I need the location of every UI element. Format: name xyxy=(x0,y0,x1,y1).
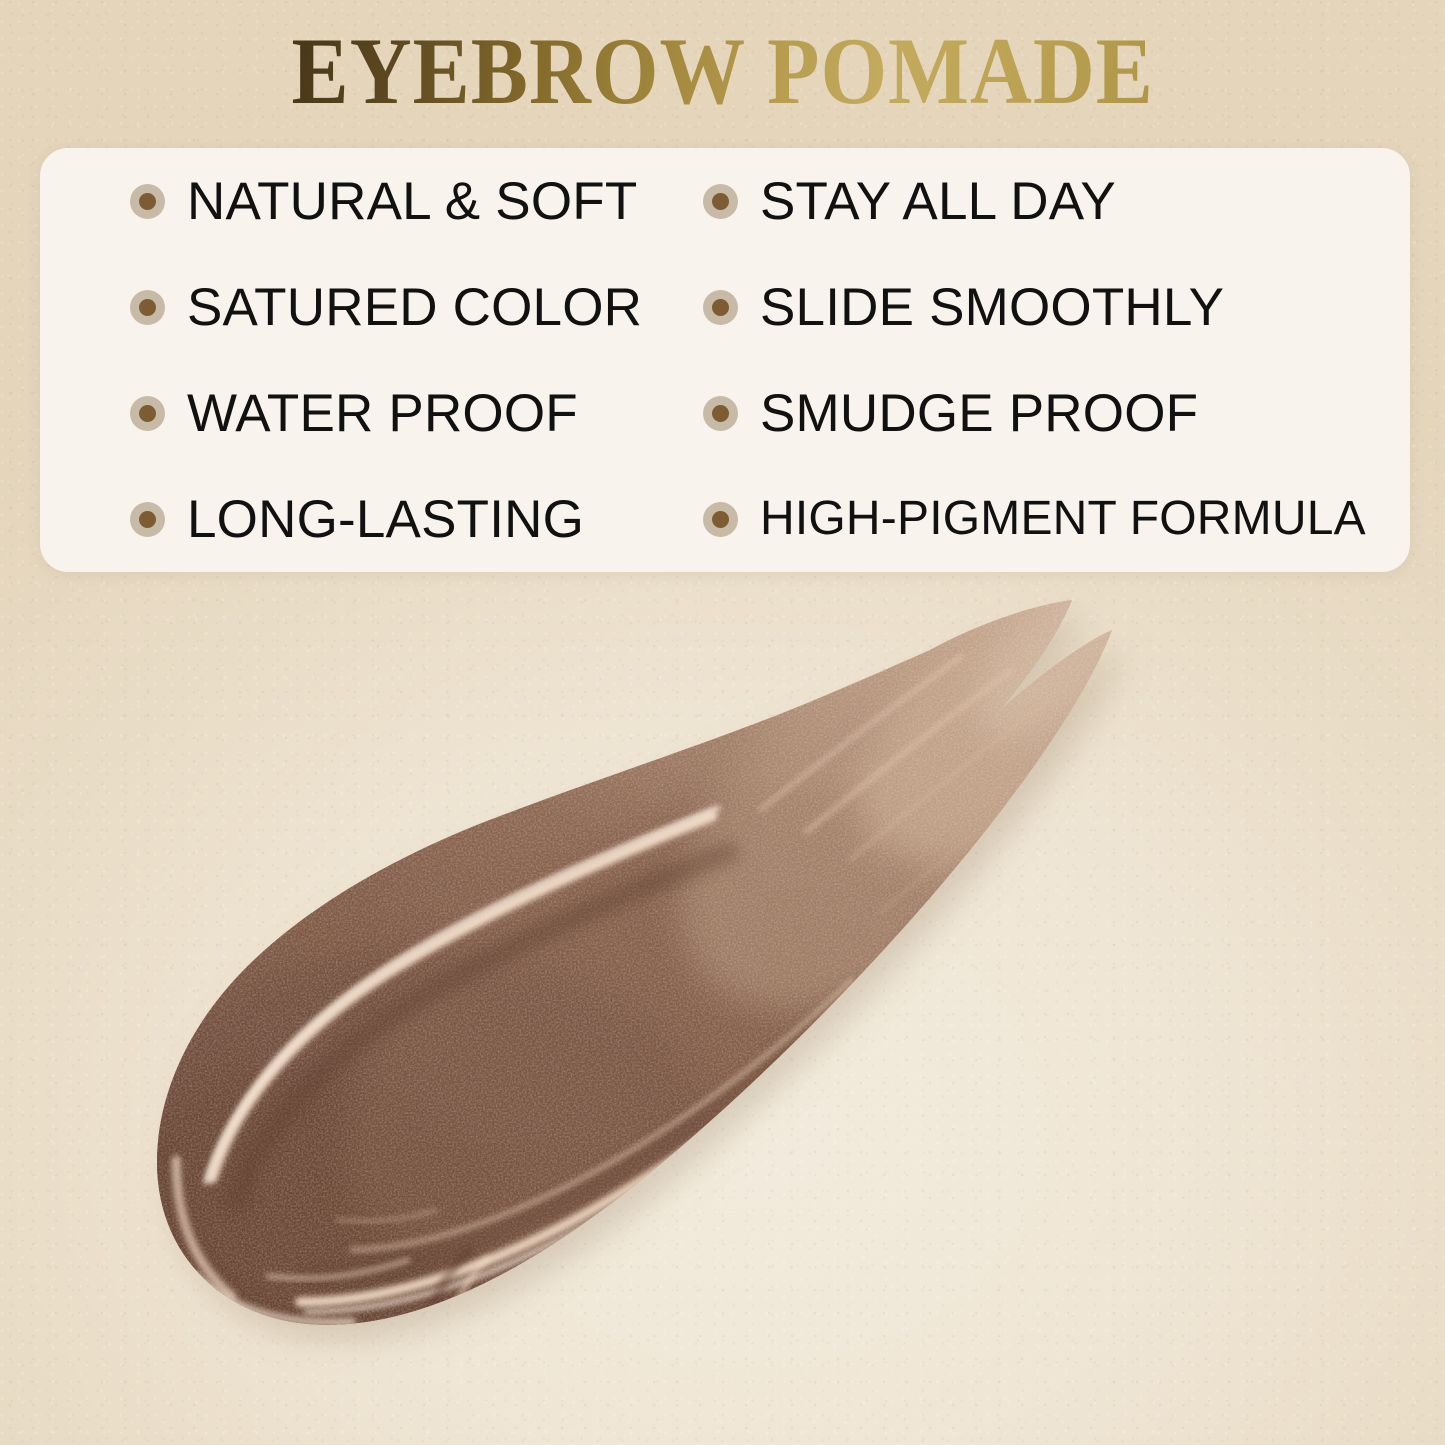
feature-label: STAY ALL DAY xyxy=(760,175,1116,228)
feature-label: LONG-LASTING xyxy=(187,493,584,546)
product-swatch-container xyxy=(0,560,1445,1445)
bullet-dot-icon xyxy=(130,502,165,537)
bullet-dot-icon xyxy=(703,396,738,431)
swatch-shading xyxy=(0,560,1445,1445)
eyebrow-pomade-swatch-image xyxy=(0,560,1445,1445)
bullet-dot-icon xyxy=(703,184,738,219)
bullet-dot-icon xyxy=(130,184,165,219)
feature-item-smudge-proof: SMUDGE PROOF xyxy=(703,387,1410,440)
feature-label: WATER PROOF xyxy=(187,387,578,440)
page-title-container: EYEBROW POMADE xyxy=(0,22,1445,110)
feature-card: NATURAL & SOFT STAY ALL DAY SATURED COLO… xyxy=(40,148,1410,572)
feature-label: SLIDE SMOOTHLY xyxy=(760,281,1224,334)
feature-item-slide-smoothly: SLIDE SMOOTHLY xyxy=(703,281,1410,334)
bullet-dot-icon xyxy=(130,290,165,325)
feature-label: HIGH-PIGMENT FORMULA xyxy=(760,495,1366,543)
feature-item-long-lasting: LONG-LASTING xyxy=(40,493,703,546)
feature-item-high-pigment-formula: HIGH-PIGMENT FORMULA xyxy=(703,495,1410,543)
feature-item-stay-all-day: STAY ALL DAY xyxy=(703,175,1410,228)
feature-label: SMUDGE PROOF xyxy=(760,387,1198,440)
feature-item-water-proof: WATER PROOF xyxy=(40,387,703,440)
feature-list: NATURAL & SOFT STAY ALL DAY SATURED COLO… xyxy=(40,148,1410,572)
feature-item-natural-soft: NATURAL & SOFT xyxy=(40,175,703,228)
bullet-dot-icon xyxy=(703,502,738,537)
feature-label: SATURED COLOR xyxy=(187,281,642,334)
product-marketing-image: EYEBROW POMADE NATURAL & SOFT STAY ALL D… xyxy=(0,0,1445,1445)
bullet-dot-icon xyxy=(703,290,738,325)
page-title: EYEBROW POMADE xyxy=(291,22,1153,123)
feature-item-satured-color: SATURED COLOR xyxy=(40,281,703,334)
bullet-dot-icon xyxy=(130,396,165,431)
feature-label: NATURAL & SOFT xyxy=(187,175,637,228)
